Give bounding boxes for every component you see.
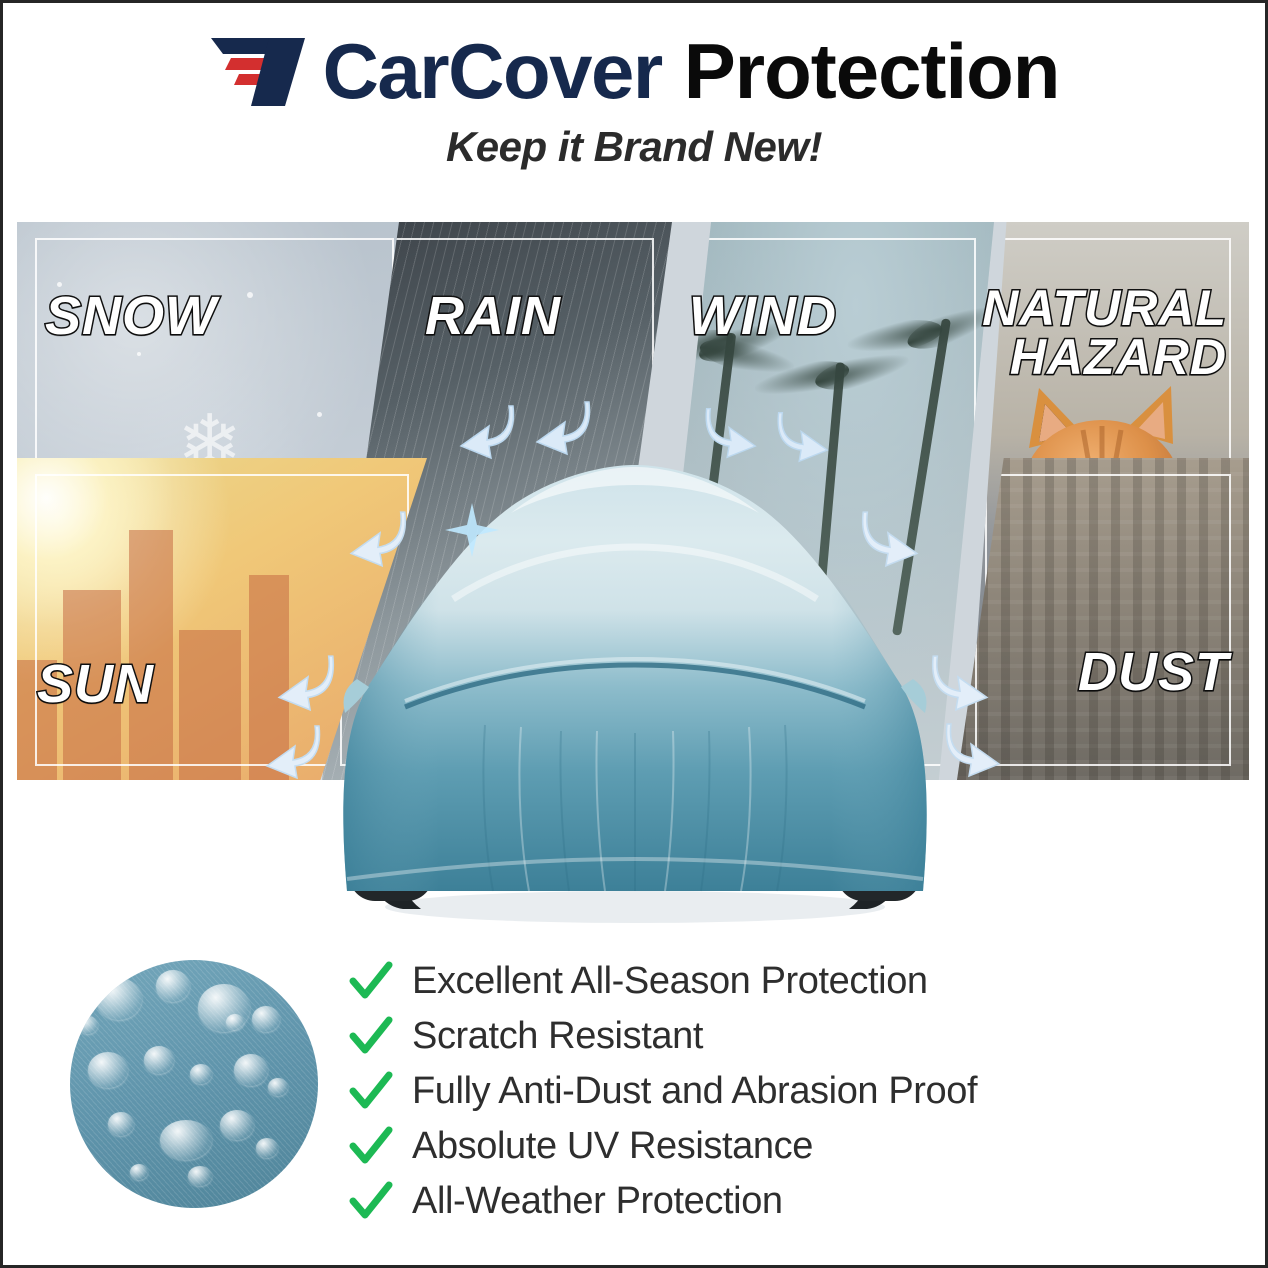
feature-label: All-Weather Protection: [412, 1180, 783, 1223]
water-beading-swatch: [61, 951, 327, 1217]
panel-label-sun: SUN: [37, 658, 154, 711]
feature-item: Scratch Resistant: [348, 1010, 1178, 1062]
checkmark-icon: [348, 1178, 394, 1224]
feature-label: Fully Anti-Dust and Abrasion Proof: [412, 1070, 977, 1113]
checkmark-icon: [348, 1013, 394, 1059]
bounce-off-arrow-icon: [263, 722, 325, 780]
checkmark-icon: [348, 1068, 394, 1114]
feature-item: Absolute UV Resistance: [348, 1120, 1178, 1172]
tagline: Keep it Brand New!: [3, 123, 1265, 171]
feature-item: All-Weather Protection: [348, 1175, 1178, 1227]
panel-label-wind: WIND: [689, 290, 837, 343]
swatch-disc: [70, 960, 318, 1208]
panel-label-rain: RAIN: [425, 290, 561, 343]
feature-item: Fully Anti-Dust and Abrasion Proof: [348, 1065, 1178, 1117]
feature-label: Scratch Resistant: [412, 1015, 703, 1058]
icarcover-wing-logo-icon: [209, 32, 321, 110]
feature-list: Excellent All-Season Protection Scratch …: [348, 955, 1178, 1230]
header: CarCover Protection Keep it Brand New!: [3, 25, 1265, 171]
panel-label-natural-hazard: NATURAL HAZARD: [982, 284, 1227, 382]
panel-label-dust: DUST: [1078, 646, 1229, 699]
product-infographic: CarCover Protection Keep it Brand New! ❄: [0, 0, 1268, 1268]
feature-item: Excellent All-Season Protection: [348, 955, 1178, 1007]
feature-label: Absolute UV Resistance: [412, 1125, 813, 1168]
feature-label: Excellent All-Season Protection: [412, 960, 928, 1003]
checkmark-icon: [348, 958, 394, 1004]
covered-car-image: [335, 439, 935, 939]
panel-label-snow: SNOW: [45, 290, 217, 343]
checkmark-icon: [348, 1123, 394, 1169]
bounce-off-arrow-icon: [941, 720, 1003, 780]
bounce-off-arrow-icon: [927, 652, 991, 714]
brand-name: CarCover: [323, 32, 662, 110]
page-title: Protection: [684, 32, 1060, 110]
bounce-off-arrow-icon: [275, 652, 339, 714]
title-row: CarCover Protection: [3, 25, 1265, 117]
